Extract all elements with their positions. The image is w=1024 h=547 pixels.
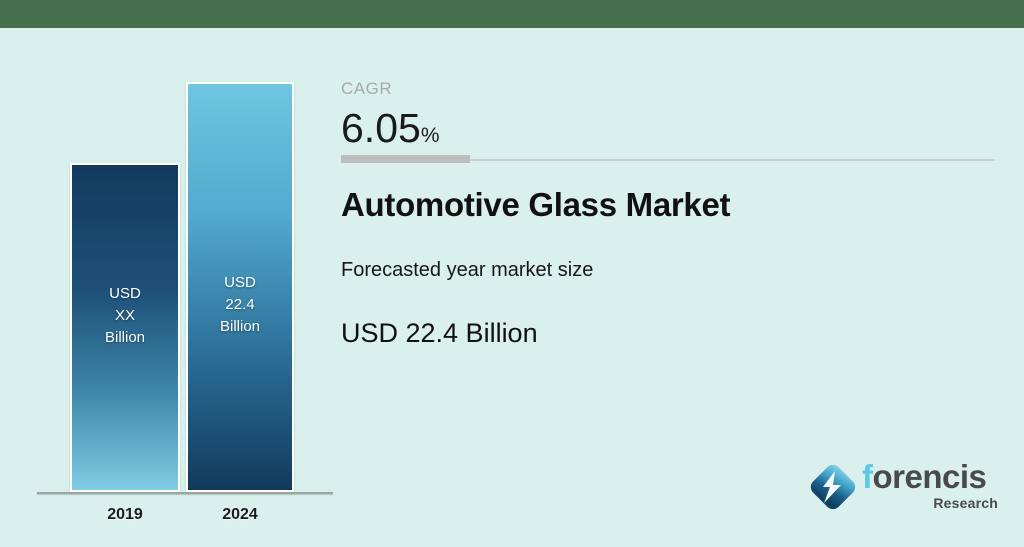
bar-2024: USD 22.4 Billion — [186, 82, 294, 492]
forecast-value: USD 22.4 Billion — [341, 318, 538, 349]
bar-chart: USD XX Billion USD 22.4 Billion 2019 202… — [0, 28, 345, 547]
top-green-band — [0, 0, 1024, 28]
forecast-caption: Forecasted year market size — [341, 259, 593, 282]
cagr-label: CAGR — [341, 79, 392, 99]
page-title: Automotive Glass Market — [341, 186, 730, 224]
logo-f-glyph: f — [862, 458, 873, 495]
bar-2019-label-line1: USD — [72, 283, 178, 305]
cagr-number: 6.05 — [341, 105, 421, 151]
cagr-value: 6.05% — [341, 104, 440, 160]
bar-2019-label-line3: Billion — [72, 327, 178, 349]
bar-2019: USD XX Billion — [70, 163, 180, 492]
bar-2019-label: USD XX Billion — [72, 283, 178, 349]
bar-2024-label-line1: USD — [188, 272, 292, 294]
chart-baseline-axis — [37, 492, 333, 494]
infographic-canvas: USD XX Billion USD 22.4 Billion 2019 202… — [0, 0, 1024, 547]
bar-2024-label: USD 22.4 Billion — [188, 272, 292, 338]
forencis-research-logo[interactable]: forencis Research — [800, 450, 1000, 522]
bar-2024-label-line2: 22.4 — [188, 294, 292, 316]
logo-subtitle: Research — [933, 495, 998, 511]
section-divider-accent — [341, 155, 470, 163]
logo-word-rest: orencis — [873, 458, 987, 495]
x-axis-tick-2024: 2024 — [180, 506, 300, 524]
x-axis-tick-2019: 2019 — [65, 506, 185, 524]
bar-2024-label-line3: Billion — [188, 316, 292, 338]
bar-2019-label-line2: XX — [72, 305, 178, 327]
forencis-wordmark: forencis Research — [862, 459, 1000, 517]
cagr-percent-symbol: % — [421, 124, 440, 147]
logo-word: forencis — [862, 459, 986, 495]
forencis-diamond-icon — [804, 458, 862, 516]
